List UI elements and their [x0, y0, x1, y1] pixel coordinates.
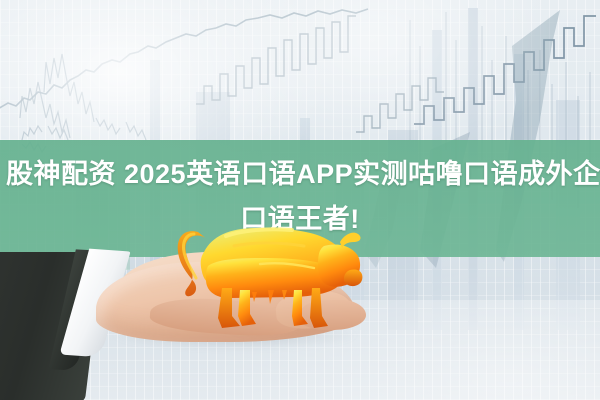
bull-horn-left: [340, 233, 361, 248]
bull-figurine: [164, 212, 364, 344]
bull-foreleg-near: [310, 288, 328, 328]
hand-holding-bull-photo: [0, 0, 600, 400]
stock-news-banner: 股神配资 2025英语口语APP实测咕噜口语成外企 口语王者!: [0, 0, 600, 400]
